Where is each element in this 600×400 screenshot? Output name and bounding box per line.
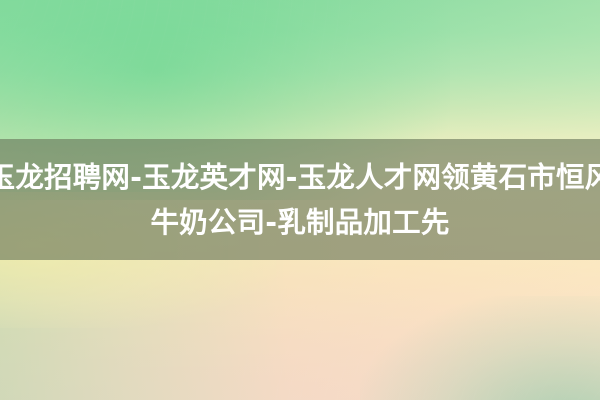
background-green-wash-bottom-right (360, 296, 600, 400)
promo-banner: 玉龙招聘网-玉龙英才网-玉龙人才网领黄石市恒风 牛奶公司-乳制品加工先 (0, 0, 600, 400)
banner-title-line-1: 玉龙招聘网-玉龙英才网-玉龙人才网领黄石市恒风 (0, 155, 600, 200)
banner-title-line-2: 牛奶公司-乳制品加工先 (150, 200, 449, 245)
title-overlay-band: 玉龙招聘网-玉龙英才网-玉龙人才网领黄石市恒风 牛奶公司-乳制品加工先 (0, 139, 600, 260)
